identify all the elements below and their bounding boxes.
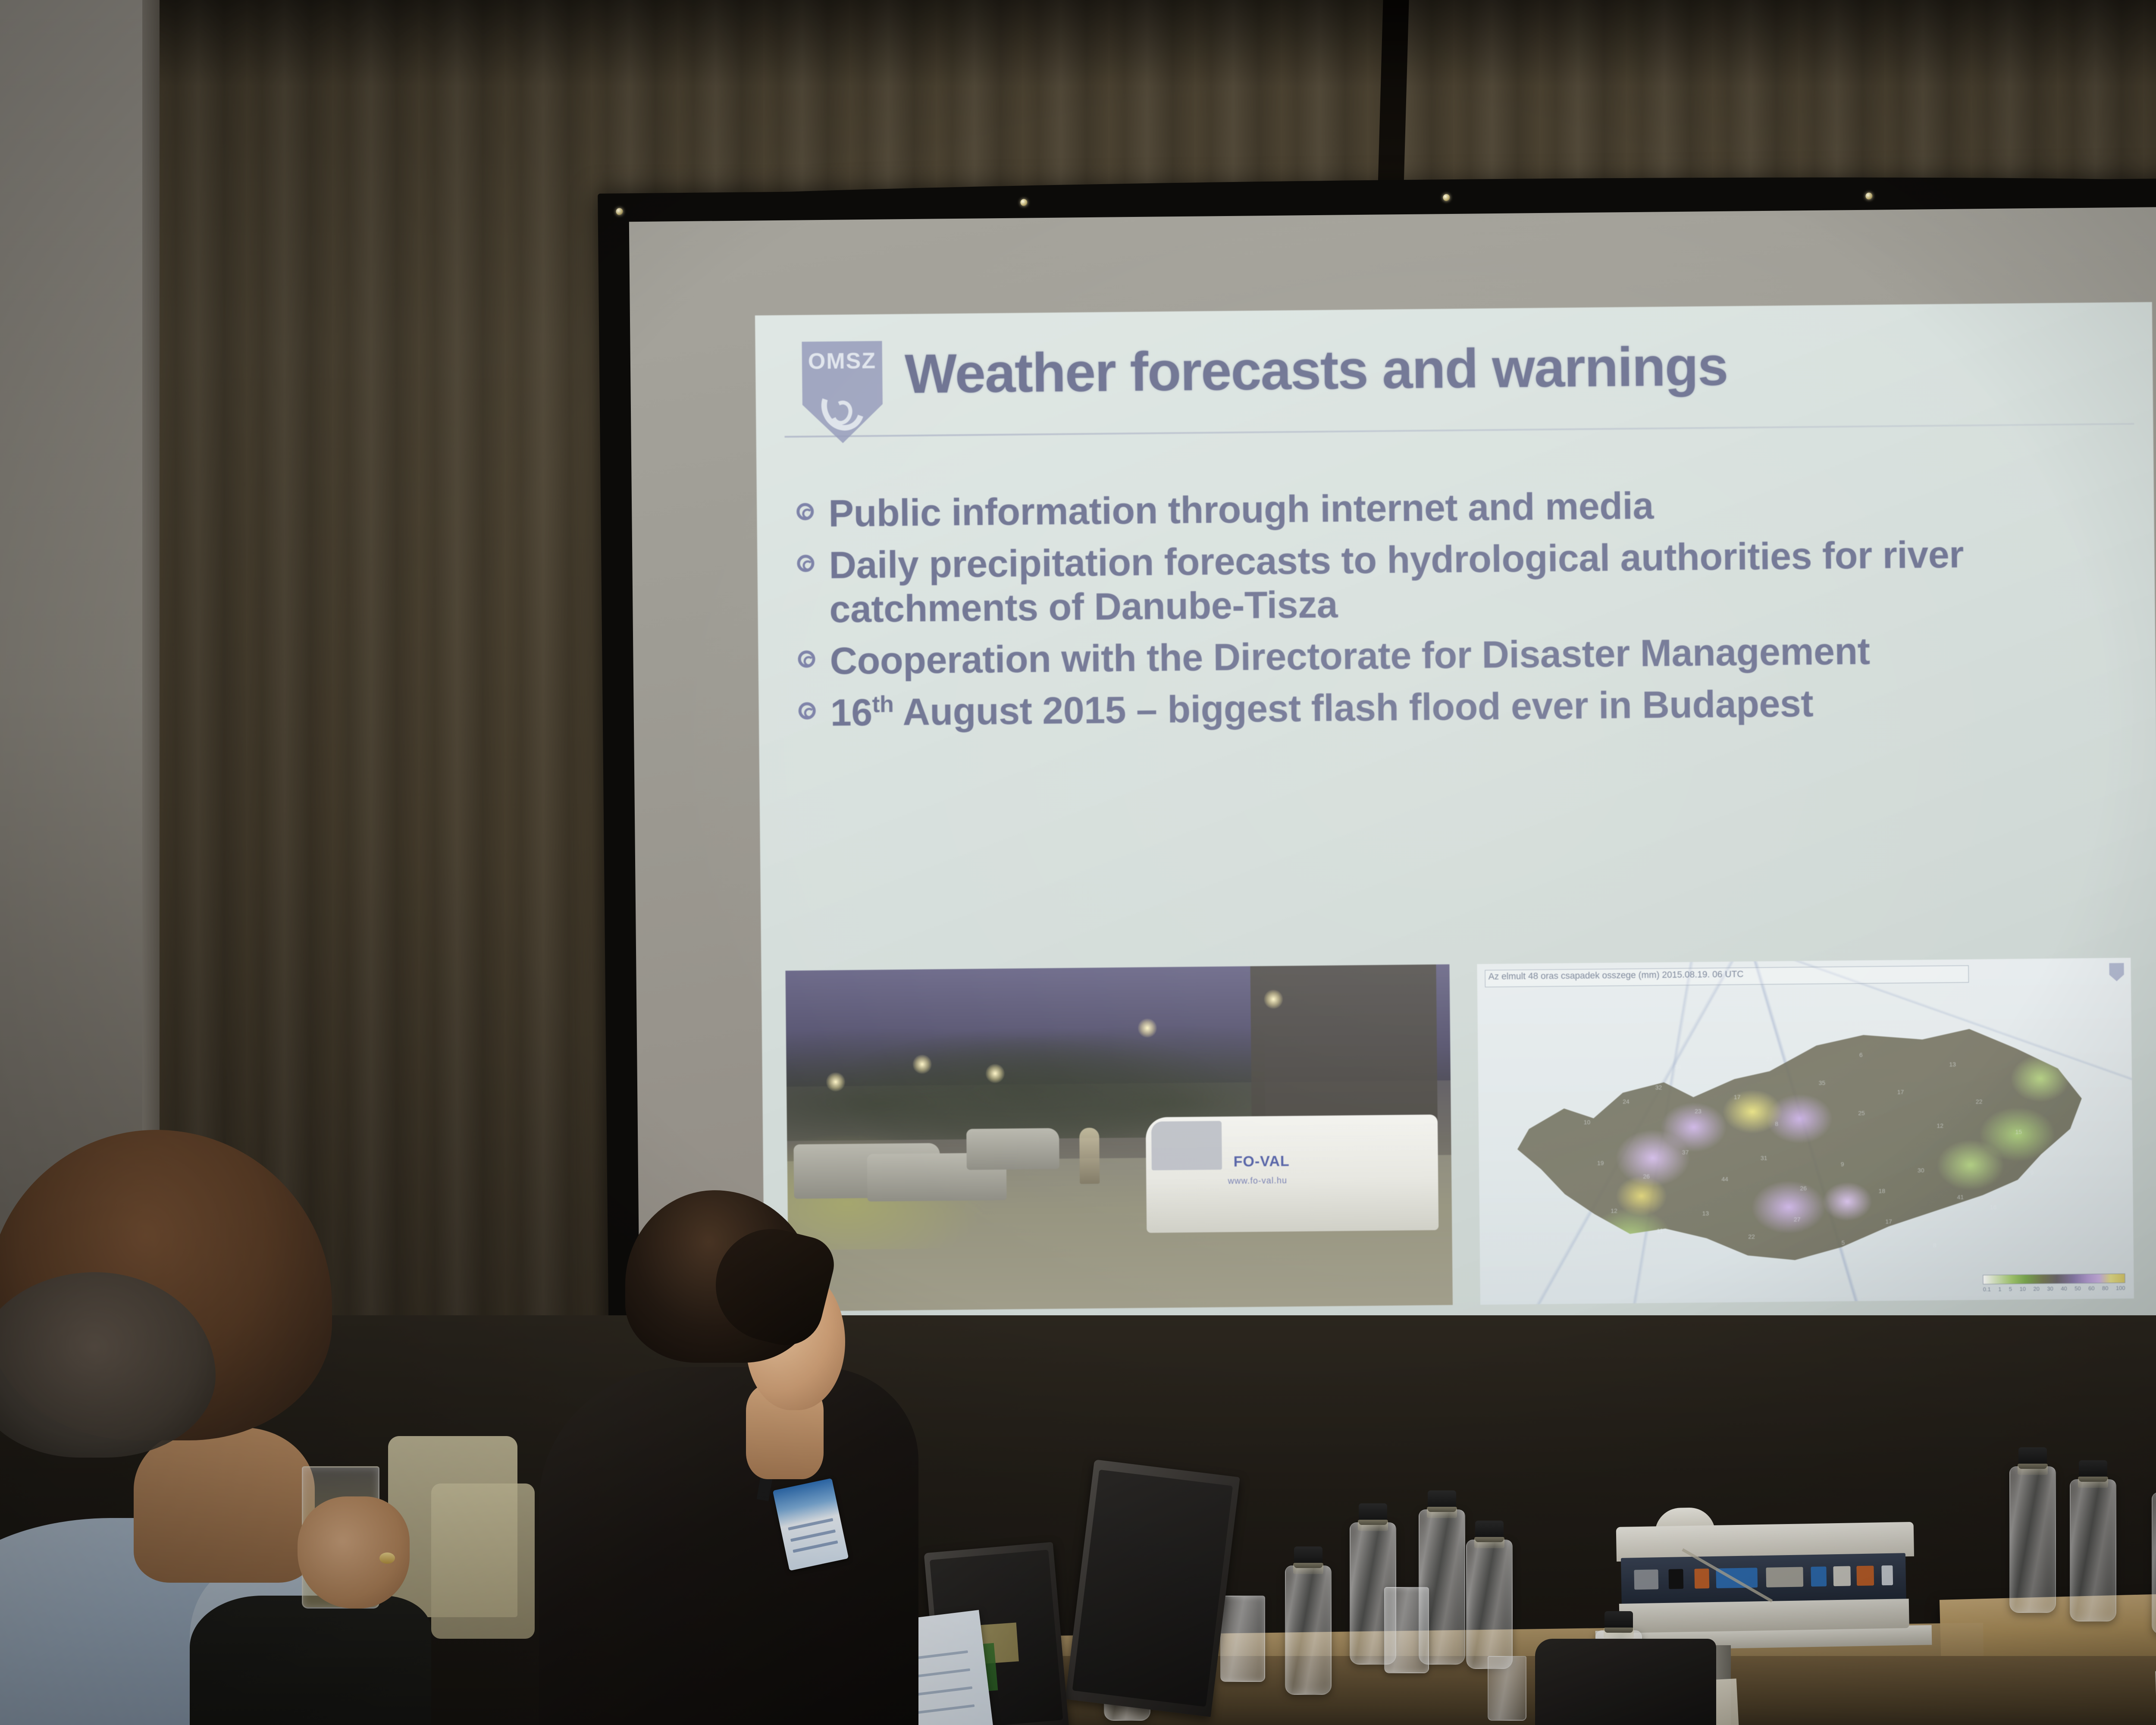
projector-port bbox=[1766, 1567, 1803, 1587]
bullet-text: Daily precipitation forecasts to hydrolo… bbox=[829, 531, 2131, 631]
station-value: 37 bbox=[1682, 1149, 1689, 1154]
spiral-bullet-icon bbox=[798, 639, 830, 668]
legend-tick: 60 bbox=[2088, 1285, 2095, 1293]
foreground-attendee bbox=[0, 1130, 431, 1725]
station-value: 24 bbox=[1622, 1099, 1630, 1104]
screen-grommet bbox=[1865, 193, 1872, 200]
station-value: 17 bbox=[1885, 1219, 1893, 1224]
list-item: Public information through internet and … bbox=[796, 479, 2130, 536]
station-value: 27 bbox=[1793, 1217, 1801, 1222]
conference-room-scene: OMSZ Weather forecasts and warnings Publ… bbox=[0, 0, 2156, 1725]
station-value: 13 bbox=[1949, 1062, 1956, 1067]
spiral-bullet-icon bbox=[798, 691, 830, 720]
station-value: 19 bbox=[1597, 1160, 1604, 1166]
station-value: 21 bbox=[1766, 1057, 1774, 1062]
station-value: 10 bbox=[1583, 1120, 1591, 1125]
station-value: 32 bbox=[1655, 1085, 1662, 1090]
legend-tick: 10 bbox=[2019, 1286, 2026, 1293]
van-branding-subtext: www.fo-val.hu bbox=[1228, 1176, 1287, 1186]
van-branding-text: FO-VAL bbox=[1233, 1153, 1289, 1170]
bullet-date-rest: August 2015 – biggest flash flood ever i… bbox=[893, 682, 1813, 733]
station-value: 22 bbox=[1748, 1234, 1755, 1239]
attendee-neck bbox=[134, 1427, 315, 1583]
station-value: 44 bbox=[1721, 1176, 1729, 1182]
map-color-legend bbox=[1983, 1273, 2125, 1284]
legend-tick: 20 bbox=[2033, 1286, 2040, 1293]
drinking-glass[interactable] bbox=[1384, 1587, 1429, 1673]
station-value: 22 bbox=[1975, 1099, 1983, 1104]
legend-tick: 100 bbox=[2116, 1285, 2125, 1292]
slide-bullet-list: Public information through internet and … bbox=[781, 479, 2132, 735]
map-legend-ticks: 0.1 1 5 10 20 30 40 50 60 80 100 bbox=[1983, 1285, 2125, 1294]
spiral-bullet-icon bbox=[796, 492, 829, 521]
bullet-ordinal-suffix: th bbox=[872, 691, 894, 717]
badge-line bbox=[788, 1518, 834, 1531]
station-value: 6 bbox=[1857, 1052, 1865, 1057]
slide-title: Weather forecasts and warnings bbox=[905, 335, 1728, 406]
streetlight-glow-icon bbox=[912, 1054, 931, 1073]
station-value: 8 bbox=[1931, 1242, 1939, 1248]
laptop-open[interactable] bbox=[1065, 1459, 1240, 1717]
legend-tick: 0.1 bbox=[1983, 1286, 1991, 1294]
water-bottle[interactable] bbox=[2070, 1479, 2116, 1621]
station-value: 34 bbox=[1674, 1064, 1682, 1069]
station-value: 15 bbox=[2015, 1129, 2022, 1134]
spiral-bullet-icon bbox=[797, 543, 829, 572]
station-value: 26 bbox=[1799, 1186, 1807, 1191]
projector-port bbox=[1881, 1565, 1893, 1585]
station-value: 13 bbox=[1702, 1211, 1709, 1216]
van-window bbox=[1151, 1121, 1222, 1170]
station-value: 41 bbox=[1956, 1195, 1964, 1200]
water-bottle[interactable] bbox=[1466, 1540, 1513, 1669]
screen-grommet bbox=[616, 208, 623, 215]
left-wall bbox=[0, 0, 164, 1251]
bullet-text: Public information through internet and … bbox=[828, 484, 1654, 536]
station-value: 35 bbox=[1818, 1080, 1826, 1085]
bullet-date-number: 16 bbox=[830, 691, 872, 734]
photo-building bbox=[1250, 964, 1438, 1123]
seated-attendee bbox=[487, 1182, 910, 1725]
bullet-text: 16th August 2015 – biggest flash flood e… bbox=[830, 681, 1813, 735]
water-bottle[interactable] bbox=[1285, 1565, 1332, 1695]
bullet-text: Cooperation with the Directorate for Dis… bbox=[830, 629, 1870, 683]
white-van: FO-VAL www.fo-val.hu bbox=[1145, 1114, 1438, 1233]
station-value: 11 bbox=[1656, 1228, 1664, 1233]
station-value: 12 bbox=[1936, 1123, 1944, 1128]
station-value: 9 bbox=[2028, 1170, 2036, 1175]
station-value: 9 bbox=[1839, 1161, 1846, 1167]
finger-ring bbox=[379, 1552, 395, 1564]
attendee-hand bbox=[298, 1496, 410, 1609]
screen-grommet bbox=[1443, 194, 1450, 201]
omsz-logo-icon: OMSZ bbox=[802, 341, 883, 444]
legend-tick: 80 bbox=[2102, 1285, 2109, 1292]
screen-grommet bbox=[1020, 199, 1027, 206]
station-value: 23 bbox=[1694, 1108, 1702, 1113]
attendee-blazer bbox=[539, 1367, 918, 1725]
legend-tick: 5 bbox=[2009, 1286, 2012, 1294]
water-bottle[interactable] bbox=[2009, 1466, 2056, 1613]
station-value: 8 bbox=[1773, 1121, 1780, 1126]
list-item: 16th August 2015 – biggest flash flood e… bbox=[798, 678, 2132, 735]
water-bottle[interactable] bbox=[2152, 1492, 2156, 1634]
badge-line bbox=[790, 1529, 836, 1542]
title-divider bbox=[785, 423, 2134, 438]
station-value: 17 bbox=[1896, 1089, 1904, 1095]
drinking-glass[interactable] bbox=[1488, 1656, 1526, 1721]
station-value: 18 bbox=[1878, 1189, 1886, 1194]
station-value: 12 bbox=[1610, 1208, 1618, 1213]
badge-line bbox=[793, 1540, 838, 1553]
streetlight-glow-icon bbox=[1138, 1018, 1157, 1037]
omsz-logo-text: OMSZ bbox=[802, 348, 883, 375]
station-value: 25 bbox=[1858, 1110, 1865, 1115]
person-in-water bbox=[1079, 1128, 1100, 1184]
projector-port bbox=[1856, 1566, 1874, 1586]
drinking-glass[interactable] bbox=[1220, 1596, 1265, 1682]
station-value: 31 bbox=[1760, 1155, 1768, 1160]
legend-tick: 40 bbox=[2061, 1285, 2067, 1293]
list-item: Daily precipitation forecasts to hydrolo… bbox=[797, 531, 2131, 632]
submerged-car bbox=[966, 1128, 1059, 1170]
attendee-dark-shoulder bbox=[190, 1596, 431, 1725]
station-value: 16 bbox=[1989, 1204, 1997, 1210]
legend-tick: 30 bbox=[2047, 1286, 2053, 1293]
shield-icon: OMSZ bbox=[802, 341, 883, 444]
ceiling-shadow bbox=[160, 0, 2156, 86]
station-value: 17 bbox=[1733, 1095, 1741, 1100]
projector-port bbox=[1811, 1566, 1827, 1587]
station-value: 30 bbox=[1917, 1167, 1925, 1173]
equipment-case bbox=[1535, 1639, 1716, 1725]
data-projector bbox=[1612, 1522, 1916, 1643]
precipitation-map: Az elmult 48 oras csapadek osszege (mm) … bbox=[1477, 958, 2134, 1305]
laptop-screen bbox=[1072, 1470, 1233, 1706]
list-item: Cooperation with the Directorate for Dis… bbox=[798, 627, 2131, 684]
station-value: 5 bbox=[1839, 1240, 1847, 1245]
slide-image-row: FO-VAL www.fo-val.hu Az elmult 48 oras c… bbox=[785, 958, 2134, 1311]
projector-port bbox=[1634, 1569, 1658, 1590]
legend-tick: 50 bbox=[2075, 1285, 2081, 1293]
projector-port bbox=[1833, 1566, 1851, 1586]
legend-tick: 1 bbox=[1998, 1286, 2001, 1294]
slide-header: OMSZ Weather forecasts and warnings bbox=[779, 321, 2129, 489]
presentation-slide: OMSZ Weather forecasts and warnings Publ… bbox=[755, 302, 2156, 1342]
station-value: 26 bbox=[1642, 1173, 1650, 1179]
